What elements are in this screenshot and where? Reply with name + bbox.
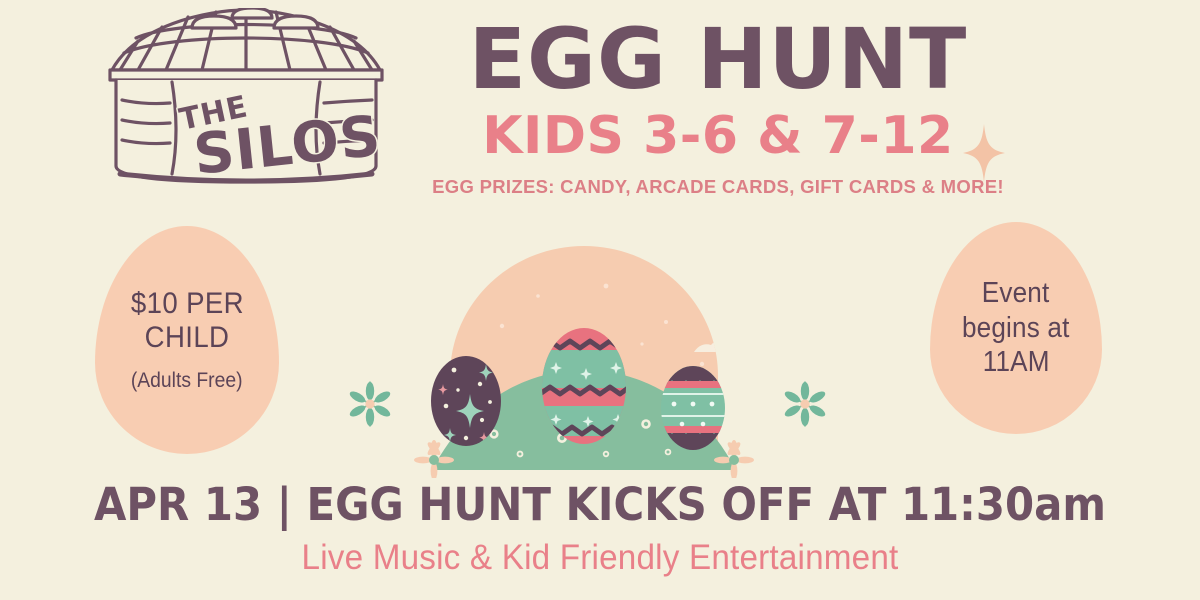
the-silos-logo: THE SILOS (96, 8, 396, 203)
egg-hunt-event-banner: THE SILOS EGG HUNT KIDS 3-6 & 7-12 EGG P… (0, 0, 1200, 600)
event-time-line2: begins at (962, 311, 1070, 346)
easter-egg-scene (410, 238, 758, 478)
age-groups-subtitle: KIDS 3-6 & 7-12 (418, 110, 1018, 162)
event-tagline: Live Music & Kid Friendly Entertainment (30, 538, 1170, 578)
price-badge-note: (Adults Free) (131, 368, 243, 393)
event-date-line: APR 13 | EGG HUNT KICKS OFF AT 11:30am (42, 478, 1158, 531)
event-time-line1: Event (982, 276, 1050, 311)
price-badge: $10 PER CHILD (Adults Free) (95, 226, 279, 454)
event-time-line3: 11AM (983, 345, 1050, 380)
prizes-line: EGG PRIZES: CANDY, ARCADE CARDS, GIFT CA… (418, 176, 1018, 198)
price-badge-line2: CHILD (145, 321, 230, 355)
egg-starry-purple (431, 356, 501, 446)
page-title: EGG HUNT (418, 10, 1018, 100)
headline-block: EGG HUNT KIDS 3-6 & 7-12 EGG PRIZES: CAN… (418, 10, 1018, 198)
price-badge-line1: $10 PER (130, 287, 243, 321)
daisy-icon (347, 378, 393, 430)
sparkle-icon (963, 124, 1005, 182)
daisy-icon (782, 378, 828, 430)
event-time-badge: Event begins at 11AM (930, 222, 1102, 434)
